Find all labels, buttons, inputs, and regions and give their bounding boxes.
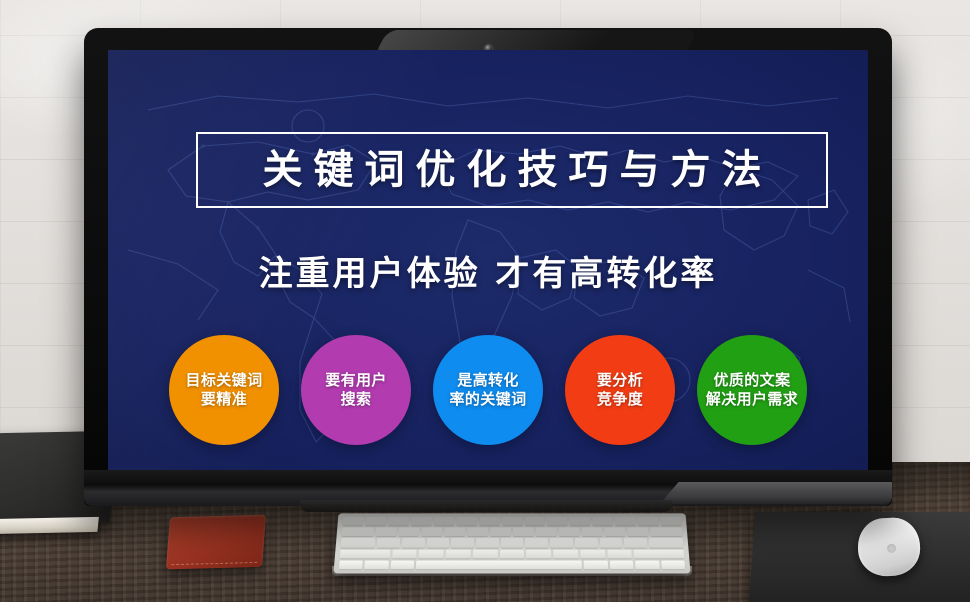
key[interactable]: [341, 539, 376, 548]
key[interactable]: [609, 560, 633, 569]
circle-badge-list: 目标关键词 要精准 要有用户 搜索 是高转化 率的关键词 要分析 竞争度 优质的…: [108, 320, 868, 460]
key[interactable]: [490, 528, 511, 537]
key[interactable]: [536, 528, 557, 537]
key[interactable]: [592, 517, 613, 526]
key[interactable]: [339, 560, 363, 569]
key[interactable]: [473, 549, 498, 558]
key[interactable]: [635, 560, 659, 569]
circle-badge-4[interactable]: 要分析 竞争度: [565, 335, 675, 445]
key[interactable]: [421, 528, 442, 537]
key[interactable]: [525, 539, 548, 548]
circle-badge-2-line1: 要有用户: [325, 371, 387, 391]
key[interactable]: [456, 517, 477, 526]
book-pages: [0, 517, 99, 534]
key[interactable]: [479, 517, 500, 526]
key[interactable]: [342, 528, 374, 537]
key[interactable]: [402, 539, 425, 548]
circle-badge-1-line2: 要精准: [201, 390, 247, 410]
key[interactable]: [547, 517, 568, 526]
key[interactable]: [599, 539, 622, 548]
key[interactable]: [638, 517, 659, 526]
key[interactable]: [411, 517, 432, 526]
key[interactable]: [502, 517, 523, 526]
circle-badge-3-line1: 是高转化: [457, 371, 519, 391]
circle-badge-3-line2: 率的关键词: [449, 390, 526, 410]
key[interactable]: [392, 549, 417, 558]
key[interactable]: [426, 539, 449, 548]
key[interactable]: [570, 517, 591, 526]
keyboard-row: [341, 539, 684, 548]
key[interactable]: [634, 549, 684, 558]
circle-badge-5-line2: 解决用户需求: [706, 390, 798, 410]
circle-badge-3[interactable]: 是高转化 率的关键词: [433, 335, 543, 445]
key[interactable]: [524, 517, 545, 526]
key[interactable]: [649, 539, 684, 548]
title-frame: 关键词优化技巧与方法: [196, 132, 828, 208]
key[interactable]: [467, 528, 488, 537]
circle-badge-2[interactable]: 要有用户 搜索: [301, 335, 411, 445]
key[interactable]: [375, 528, 396, 537]
key[interactable]: [500, 549, 525, 558]
key[interactable]: [433, 517, 454, 526]
key[interactable]: [451, 539, 474, 548]
key[interactable]: [398, 528, 419, 537]
key[interactable]: [365, 560, 389, 569]
key[interactable]: [444, 528, 465, 537]
key[interactable]: [377, 539, 400, 548]
key[interactable]: [575, 539, 598, 548]
key[interactable]: [624, 539, 647, 548]
circle-badge-4-line1: 要分析: [597, 371, 643, 391]
computer-monitor: 关键词优化技巧与方法 注重用户体验 才有高转化率 目标关键词 要精准 要有用户 …: [84, 28, 892, 506]
keyboard-row: [342, 517, 681, 526]
key[interactable]: [661, 560, 685, 569]
key[interactable]: [607, 549, 632, 558]
key[interactable]: [419, 549, 444, 558]
page-subtitle: 注重用户体验 才有高转化率: [108, 246, 868, 295]
key[interactable]: [660, 517, 681, 526]
monitor-chin-metal-edge: [660, 482, 892, 504]
key[interactable]: [446, 549, 471, 558]
circle-badge-5-line1: 优质的文案: [713, 371, 790, 391]
circle-badge-1[interactable]: 目标关键词 要精准: [169, 335, 279, 445]
key[interactable]: [627, 528, 648, 537]
keyboard-row: [340, 549, 685, 558]
monitor-stand-foot: [300, 500, 672, 512]
circle-badge-4-line2: 竞争度: [597, 390, 643, 410]
white-apple-keyboard[interactable]: [333, 513, 690, 573]
key[interactable]: [501, 539, 524, 548]
key[interactable]: [559, 528, 580, 537]
key[interactable]: [582, 528, 603, 537]
key[interactable]: [390, 560, 414, 569]
monitor-screen[interactable]: 关键词优化技巧与方法 注重用户体验 才有高转化率 目标关键词 要精准 要有用户 …: [108, 50, 868, 498]
key[interactable]: [650, 528, 682, 537]
red-leather-wallet: [166, 515, 266, 570]
key[interactable]: [605, 528, 626, 537]
page-title: 关键词优化技巧与方法: [252, 150, 773, 190]
key[interactable]: [340, 549, 390, 558]
circle-badge-1-line1: 目标关键词: [185, 371, 262, 391]
photo-scene: 关键词优化技巧与方法 注重用户体验 才有高转化率 目标关键词 要精准 要有用户 …: [0, 0, 970, 602]
circle-badge-5[interactable]: 优质的文案 解决用户需求: [697, 335, 807, 445]
key[interactable]: [550, 539, 573, 548]
key[interactable]: [476, 539, 499, 548]
key[interactable]: [615, 517, 636, 526]
key[interactable]: [388, 517, 409, 526]
circle-badge-2-line2: 搜索: [341, 390, 372, 410]
space-key[interactable]: [416, 560, 582, 569]
key[interactable]: [553, 549, 578, 558]
key[interactable]: [342, 517, 363, 526]
key[interactable]: [365, 517, 386, 526]
keyboard-row: [342, 528, 683, 537]
key[interactable]: [513, 528, 534, 537]
key[interactable]: [526, 549, 551, 558]
key[interactable]: [584, 560, 608, 569]
keyboard-row: [339, 560, 685, 569]
key[interactable]: [580, 549, 605, 558]
